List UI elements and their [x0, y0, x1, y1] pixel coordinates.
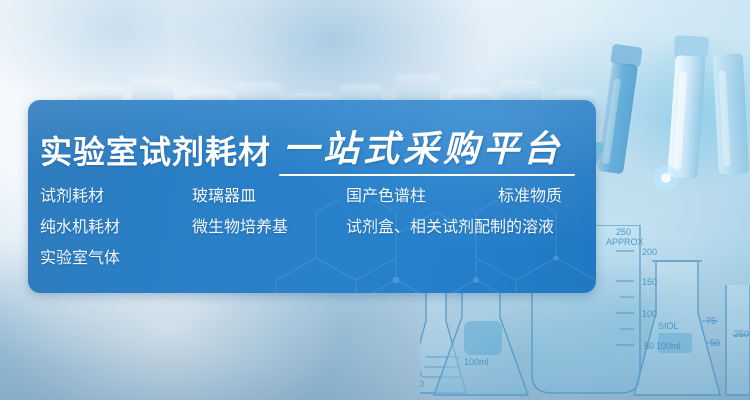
- svg-text:250: 250: [616, 227, 631, 237]
- svg-text:100ml: 100ml: [656, 341, 681, 351]
- category-list: 试剂耗材 玻璃器皿 国产色谱柱 标准物质 纯水机耗材 微生物培养基 试剂盒、相关…: [40, 180, 588, 273]
- svg-text:40: 40: [420, 369, 422, 379]
- category-row: 实验室气体: [40, 242, 588, 273]
- category-item-laboratory-gas[interactable]: 实验室气体: [40, 242, 120, 273]
- category-row: 试剂耗材 玻璃器皿 国产色谱柱 标准物质: [40, 180, 588, 211]
- category-item-water-purifier-consumables[interactable]: 纯水机耗材: [40, 211, 120, 242]
- category-item-reagent-kits-and-solutions[interactable]: 试剂盒、相关试剂配制的溶液: [346, 211, 554, 242]
- svg-text:30: 30: [420, 379, 424, 389]
- svg-text:100ml: 100ml: [464, 357, 489, 367]
- svg-text:75: 75: [706, 316, 716, 326]
- promo-panel: 实验室试剂耗材 一站式采购平台 试剂耗材 玻璃器皿 国产色谱柱 标准物质 纯水机…: [28, 100, 596, 293]
- test-tube-icon: [580, 20, 750, 210]
- category-item-domestic-chromatography-column[interactable]: 国产色谱柱: [346, 180, 426, 211]
- headline-calligraphy-wrap: 一站式采购平台: [283, 130, 563, 170]
- banner-headline: 实验室试剂耗材 一站式采购平台: [40, 118, 586, 170]
- promo-banner: 250 APPROX 200 150 100 50 GG-17 100ml SI…: [0, 0, 750, 400]
- category-item-reagent-consumables[interactable]: 试剂耗材: [40, 180, 104, 211]
- page-subtitle-calligraphy: 一站式采购平台: [283, 128, 563, 170]
- svg-text:200: 200: [642, 247, 657, 257]
- svg-text:150: 150: [642, 277, 657, 287]
- svg-text:50: 50: [644, 341, 654, 351]
- svg-text:100: 100: [642, 309, 657, 319]
- category-item-reference-material[interactable]: 标准物质: [498, 180, 562, 211]
- page-title: 实验室试剂耗材: [40, 134, 271, 170]
- svg-text:250: 250: [734, 329, 749, 339]
- svg-text:APPROX: APPROX: [606, 237, 644, 247]
- category-item-microbial-culture-media[interactable]: 微生物培养基: [192, 211, 288, 242]
- svg-text:SIOL: SIOL: [658, 321, 679, 331]
- svg-text:50: 50: [710, 338, 720, 348]
- headline-underline: [279, 174, 575, 176]
- category-item-glassware[interactable]: 玻璃器皿: [192, 180, 256, 211]
- category-row: 纯水机耗材 微生物培养基 试剂盒、相关试剂配制的溶液: [40, 211, 588, 242]
